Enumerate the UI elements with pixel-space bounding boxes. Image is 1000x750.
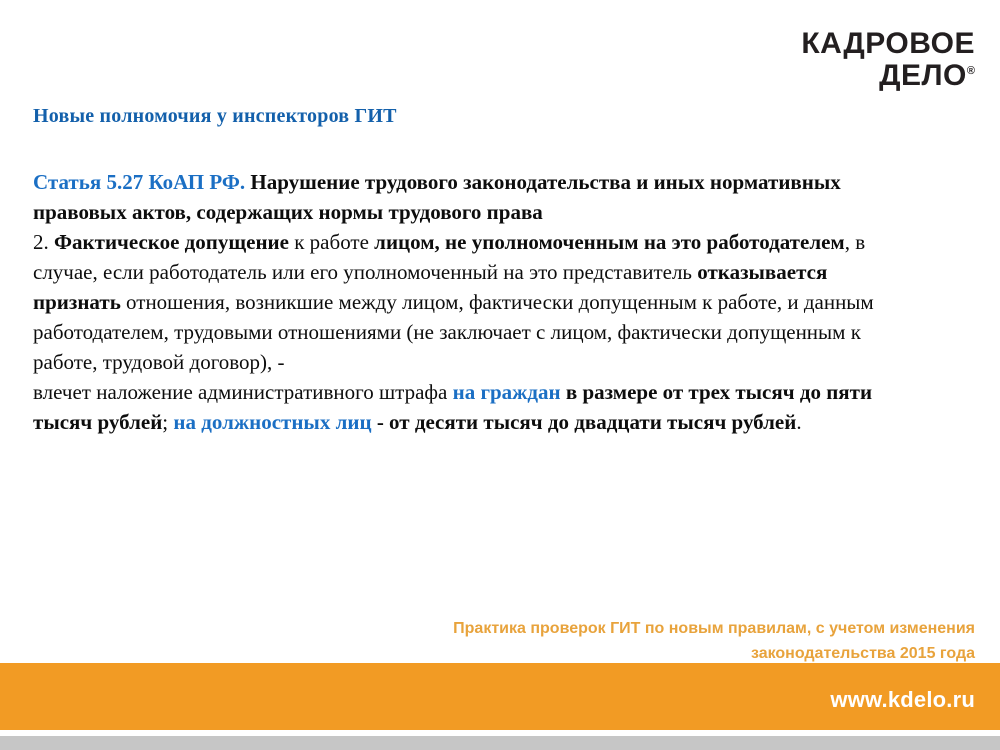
brand-logo-line2-text: ДЕЛО: [879, 59, 967, 92]
footer-caption-line1: Практика проверок ГИТ по новым правилам,…: [315, 616, 975, 641]
article-reference-label: Статья 5.27 КоАП РФ.: [33, 170, 245, 194]
slide-body-text: Статья 5.27 КоАП РФ. Нарушение трудового…: [33, 167, 888, 437]
website-url-link[interactable]: www.kdelo.ru: [830, 687, 975, 713]
registered-trademark-icon: ®: [967, 65, 975, 77]
clause-emphasis-1: Фактическое допущение: [54, 230, 289, 254]
footer-caption: Практика проверок ГИТ по новым правилам,…: [315, 616, 975, 666]
paragraph-article-heading: Статья 5.27 КоАП РФ. Нарушение трудового…: [33, 167, 888, 227]
paragraph-penalty: влечет наложение административного штраф…: [33, 377, 888, 437]
paragraph-clause-two: 2. Фактическое допущение к работе лицом,…: [33, 227, 888, 377]
brand-logo-line1: КАДРОВОЕ: [801, 27, 975, 60]
penalty-separator: ;: [162, 410, 173, 434]
page-title: Новые полномочия у инспекторов ГИТ: [33, 105, 397, 128]
clause-text-3: отношения, возникшие между лицом, фактич…: [33, 290, 874, 374]
clause-number: 2.: [33, 230, 54, 254]
penalty-subject-officials: на должностных лиц: [173, 410, 371, 434]
penalty-end-punctuation: .: [796, 410, 801, 434]
clause-text-1: к работе: [289, 230, 374, 254]
penalty-text-1: влечет наложение административного штраф…: [33, 380, 453, 404]
penalty-amount-officials: - от десяти тысяч до двадцати тысяч рубл…: [372, 410, 797, 434]
bottom-gray-strip: [0, 736, 1000, 750]
brand-logo: КАДРОВОЕ ДЕЛО®: [801, 28, 975, 93]
brand-logo-line2: ДЕЛО®: [801, 60, 975, 92]
clause-emphasis-2: лицом, не уполномоченным на это работода…: [374, 230, 845, 254]
penalty-subject-citizens: на граждан: [453, 380, 561, 404]
